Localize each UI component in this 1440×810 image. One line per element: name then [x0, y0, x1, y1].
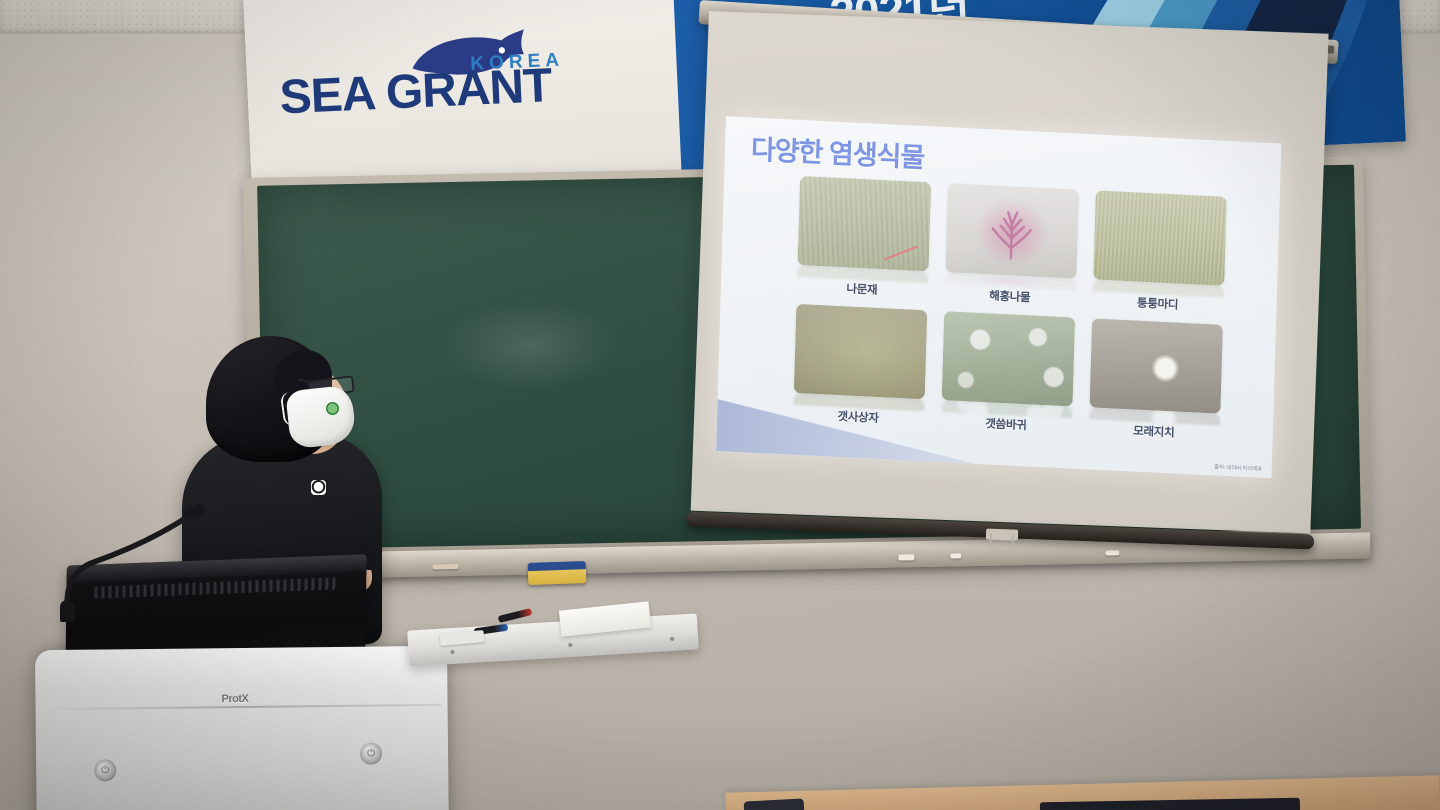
plant-caption: 해홍나물: [989, 287, 1031, 305]
gooseneck-microphone[interactable]: [42, 492, 232, 622]
chalk-smudge: [439, 299, 621, 392]
screen-pull-hook[interactable]: [989, 534, 1014, 553]
lectern-lock-right[interactable]: ⏻: [360, 743, 382, 765]
presentation-room-photo: SEA GRANT KOREA 2021년 연구 일시 2021 고회 다양한 …: [0, 0, 1440, 810]
rail-screw: [568, 643, 572, 647]
plant-caption: 나문재: [846, 280, 877, 297]
sea-grant-logo: SEA GRANT KOREA: [277, 26, 681, 136]
lectern: ProtX ⏻ ⏻: [35, 646, 449, 810]
rail-screw: [450, 650, 454, 654]
sea-grant-korea-text: KOREA: [470, 50, 565, 76]
plant-cell: 모래지치: [1087, 318, 1224, 444]
presentation-clicker[interactable]: [364, 556, 382, 570]
plant-cell: 갯씀바귀: [939, 311, 1076, 437]
chalk-piece: [950, 553, 961, 558]
slide-source-note: 출처: 네이버 지식백과: [1214, 463, 1262, 473]
plant-photo-grid: 나문재: [791, 176, 1228, 445]
slide-title: 다양한 염생식물: [750, 128, 924, 175]
microphone-icon: [42, 492, 232, 622]
plant-caption: 모래지치: [1133, 423, 1175, 441]
plant-caption: 퉁퉁마디: [1137, 295, 1179, 313]
chalk-piece: [898, 554, 914, 560]
lectern-lock-left[interactable]: ⏻: [94, 759, 116, 781]
rail-screw: [670, 637, 674, 641]
plant-photo-haehongnamul: [945, 183, 1079, 278]
table-small-object: [744, 798, 805, 810]
shirt-logo-icon: [311, 480, 326, 495]
plant-cell: 퉁퉁마디: [1090, 190, 1227, 316]
plant-photo-gaetsasangja: [793, 304, 927, 399]
plant-cell: 갯사상자: [791, 304, 928, 430]
pointer-line: [883, 246, 917, 261]
lectern-brand-badge: ProtX: [221, 693, 248, 705]
seaweed-shape-icon: [980, 200, 1044, 261]
plant-cell: 나문재: [795, 176, 932, 302]
plant-photo-gaetsseumbagwi: [941, 311, 1075, 406]
chalkboard-eraser[interactable]: [528, 561, 587, 585]
mask-brand-icon: [326, 402, 339, 415]
plant-photo-moraejichi: [1089, 318, 1223, 413]
plant-cell: 해홍나물: [943, 183, 1080, 309]
chalk-piece: [1105, 550, 1119, 555]
plant-photo-namunjae: [797, 176, 931, 271]
projected-slide: 다양한 염생식물 나문재: [716, 116, 1281, 478]
chalk-piece: [432, 564, 458, 569]
plant-caption: 갯사상자: [837, 408, 879, 426]
plant-photo-tungtungmadi: [1093, 190, 1227, 285]
plant-caption: 갯씀바귀: [985, 415, 1027, 433]
projection-screen: 다양한 염생식물 나문재: [691, 11, 1329, 533]
